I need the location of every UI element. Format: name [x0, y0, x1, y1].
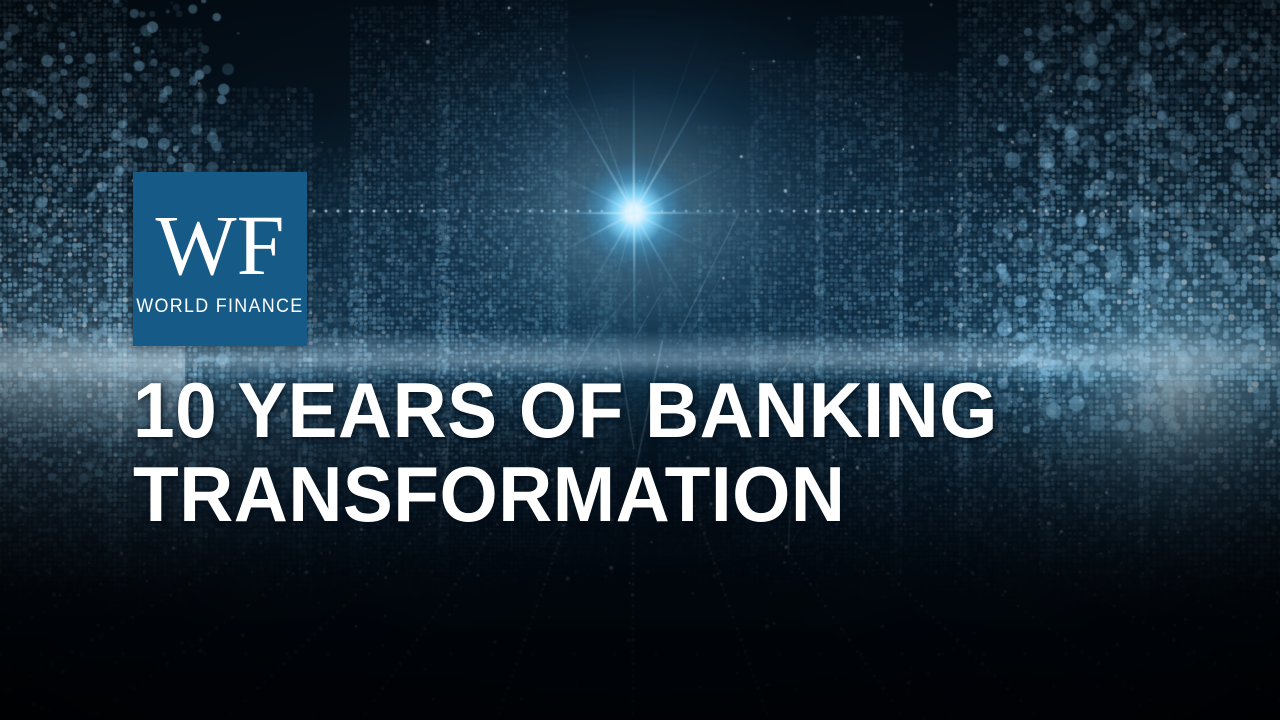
flare-ray [516, 211, 634, 213]
flare-ray [632, 63, 634, 213]
flare-ray [632, 213, 634, 363]
flare-ray [634, 211, 754, 213]
title-line-2: TRANSFORMATION [133, 452, 997, 536]
logo-wordmark: WORLD FINANCE [136, 295, 303, 318]
title-line-1: 10 YEARS OF BANKING [133, 368, 997, 452]
light-burst-icon [633, 212, 634, 213]
logo-monogram: WF [156, 206, 285, 285]
page-title: 10 YEARS OF BANKING TRANSFORMATION [133, 368, 1033, 536]
video-frame: WF WORLD FINANCE 10 YEARS OF BANKING TRA… [0, 0, 1280, 720]
world-finance-logo: WF WORLD FINANCE [133, 172, 307, 346]
